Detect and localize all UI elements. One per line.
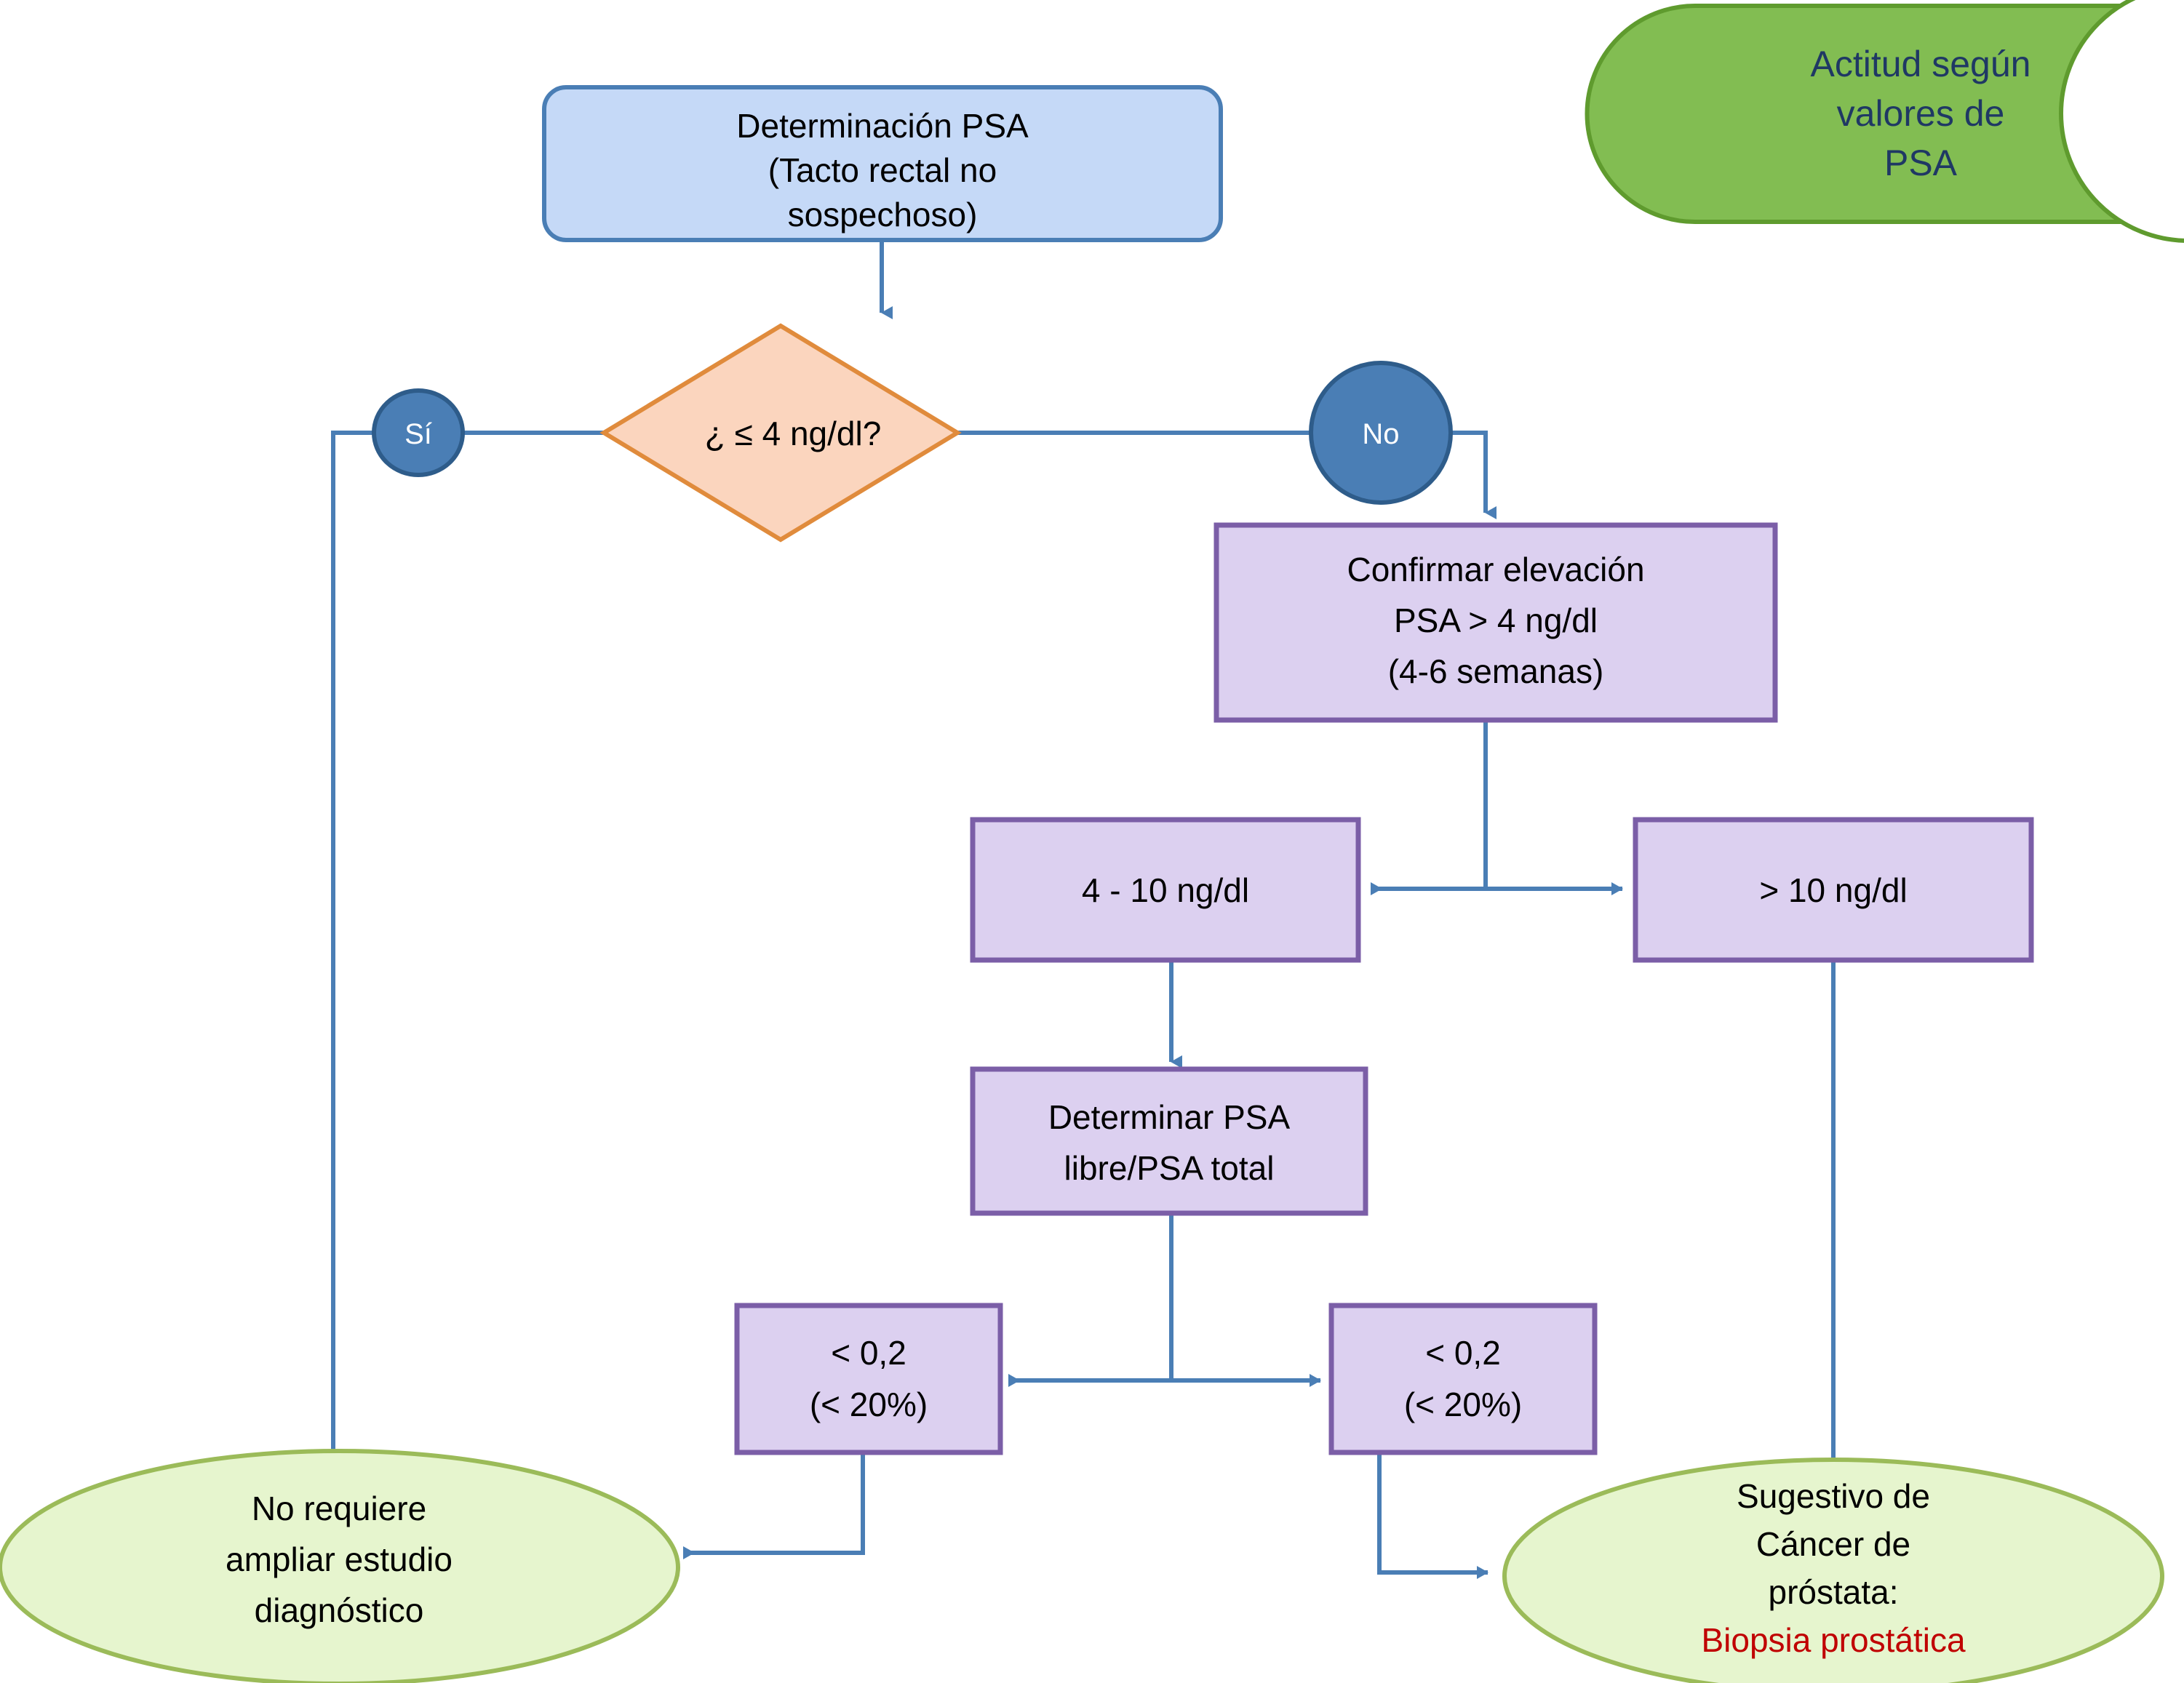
ratio-right-shape [1331, 1306, 1595, 1452]
terminal-left-line-3: diagnóstico [255, 1591, 424, 1629]
ratio-left-line-1: < 0,2 [831, 1334, 906, 1372]
psa-flowchart: Actitud según valores de PSA Determinaci… [0, 0, 2184, 1683]
ratio-right-line-1: < 0,2 [1425, 1334, 1501, 1372]
rango-mayor-10-label: > 10 ng/dl [1759, 871, 1907, 909]
no-badge-label: No [1362, 418, 1399, 450]
start-line-2: (Tacto rectal no [768, 151, 997, 189]
terminal-right-line-1: Sugestivo de [1737, 1477, 1930, 1515]
confirmar-line-2: PSA > 4 ng/dl [1394, 601, 1598, 639]
ratio-left-line-2: (< 20%) [810, 1386, 928, 1423]
node-determinacion-psa[interactable]: Determinación PSA (Tacto rectal no sospe… [544, 87, 1221, 240]
flowchart-canvas: Actitud según valores de PSA Determinaci… [0, 0, 2184, 1683]
terminal-right-line-2: Cáncer de [1756, 1525, 1910, 1563]
ratio-left-shape [737, 1306, 1000, 1452]
banner-line-2: valores de [1837, 93, 2005, 134]
psa-libre-line-1: Determinar PSA [1048, 1098, 1291, 1136]
si-badge[interactable]: Sí [374, 391, 463, 475]
edge-si-to-terminal-left [333, 433, 375, 1469]
terminal-right-highlight: Biopsia prostática [1701, 1621, 1965, 1659]
confirmar-line-3: (4-6 semanas) [1388, 652, 1604, 690]
decision-label: ¿ ≤ 4 ng/dl? [705, 415, 882, 452]
node-no-requiere-ampliar[interactable]: No requiere ampliar estudio diagnóstico [0, 1451, 678, 1683]
node-rango-mayor-10[interactable]: > 10 ng/dl [1635, 820, 2031, 960]
si-badge-label: Sí [404, 418, 432, 450]
psa-libre-line-2: libre/PSA total [1064, 1149, 1275, 1187]
actitud-banner: Actitud según valores de PSA [1587, 0, 2184, 241]
start-line-1: Determinación PSA [736, 107, 1029, 145]
node-confirmar-elevacion[interactable]: Confirmar elevación PSA > 4 ng/dl (4-6 s… [1216, 525, 1775, 720]
node-decision-psa[interactable]: ¿ ≤ 4 ng/dl? [604, 326, 957, 540]
no-badge[interactable]: No [1311, 363, 1451, 503]
banner-line-3: PSA [1884, 143, 1958, 183]
start-line-3: sospechoso) [788, 196, 978, 233]
terminal-left-line-1: No requiere [252, 1490, 426, 1527]
edge-no-to-confirmar [1451, 433, 1486, 513]
edge-ratio-left-to-terminal-left [684, 1455, 863, 1553]
banner-line-1: Actitud según [1811, 44, 2031, 84]
psa-libre-shape [973, 1069, 1366, 1213]
node-ratio-derecha[interactable]: < 0,2 (< 20%) [1331, 1306, 1595, 1452]
node-sugestivo-cancer[interactable]: Sugestivo de Cáncer de próstata: Biopsia… [1505, 1460, 2162, 1683]
edge-ratio-right-to-terminal-right [1379, 1455, 1488, 1572]
confirmar-line-1: Confirmar elevación [1347, 551, 1644, 588]
terminal-right-line-3: próstata: [1769, 1573, 1899, 1611]
node-rango-4-10[interactable]: 4 - 10 ng/dl [973, 820, 1358, 960]
node-ratio-izquierda[interactable]: < 0,2 (< 20%) [737, 1306, 1000, 1452]
rango-4-10-label: 4 - 10 ng/dl [1082, 871, 1249, 909]
node-determinar-psa-libre[interactable]: Determinar PSA libre/PSA total [973, 1069, 1366, 1213]
terminal-left-line-2: ampliar estudio [226, 1540, 453, 1578]
ratio-right-line-2: (< 20%) [1404, 1386, 1522, 1423]
